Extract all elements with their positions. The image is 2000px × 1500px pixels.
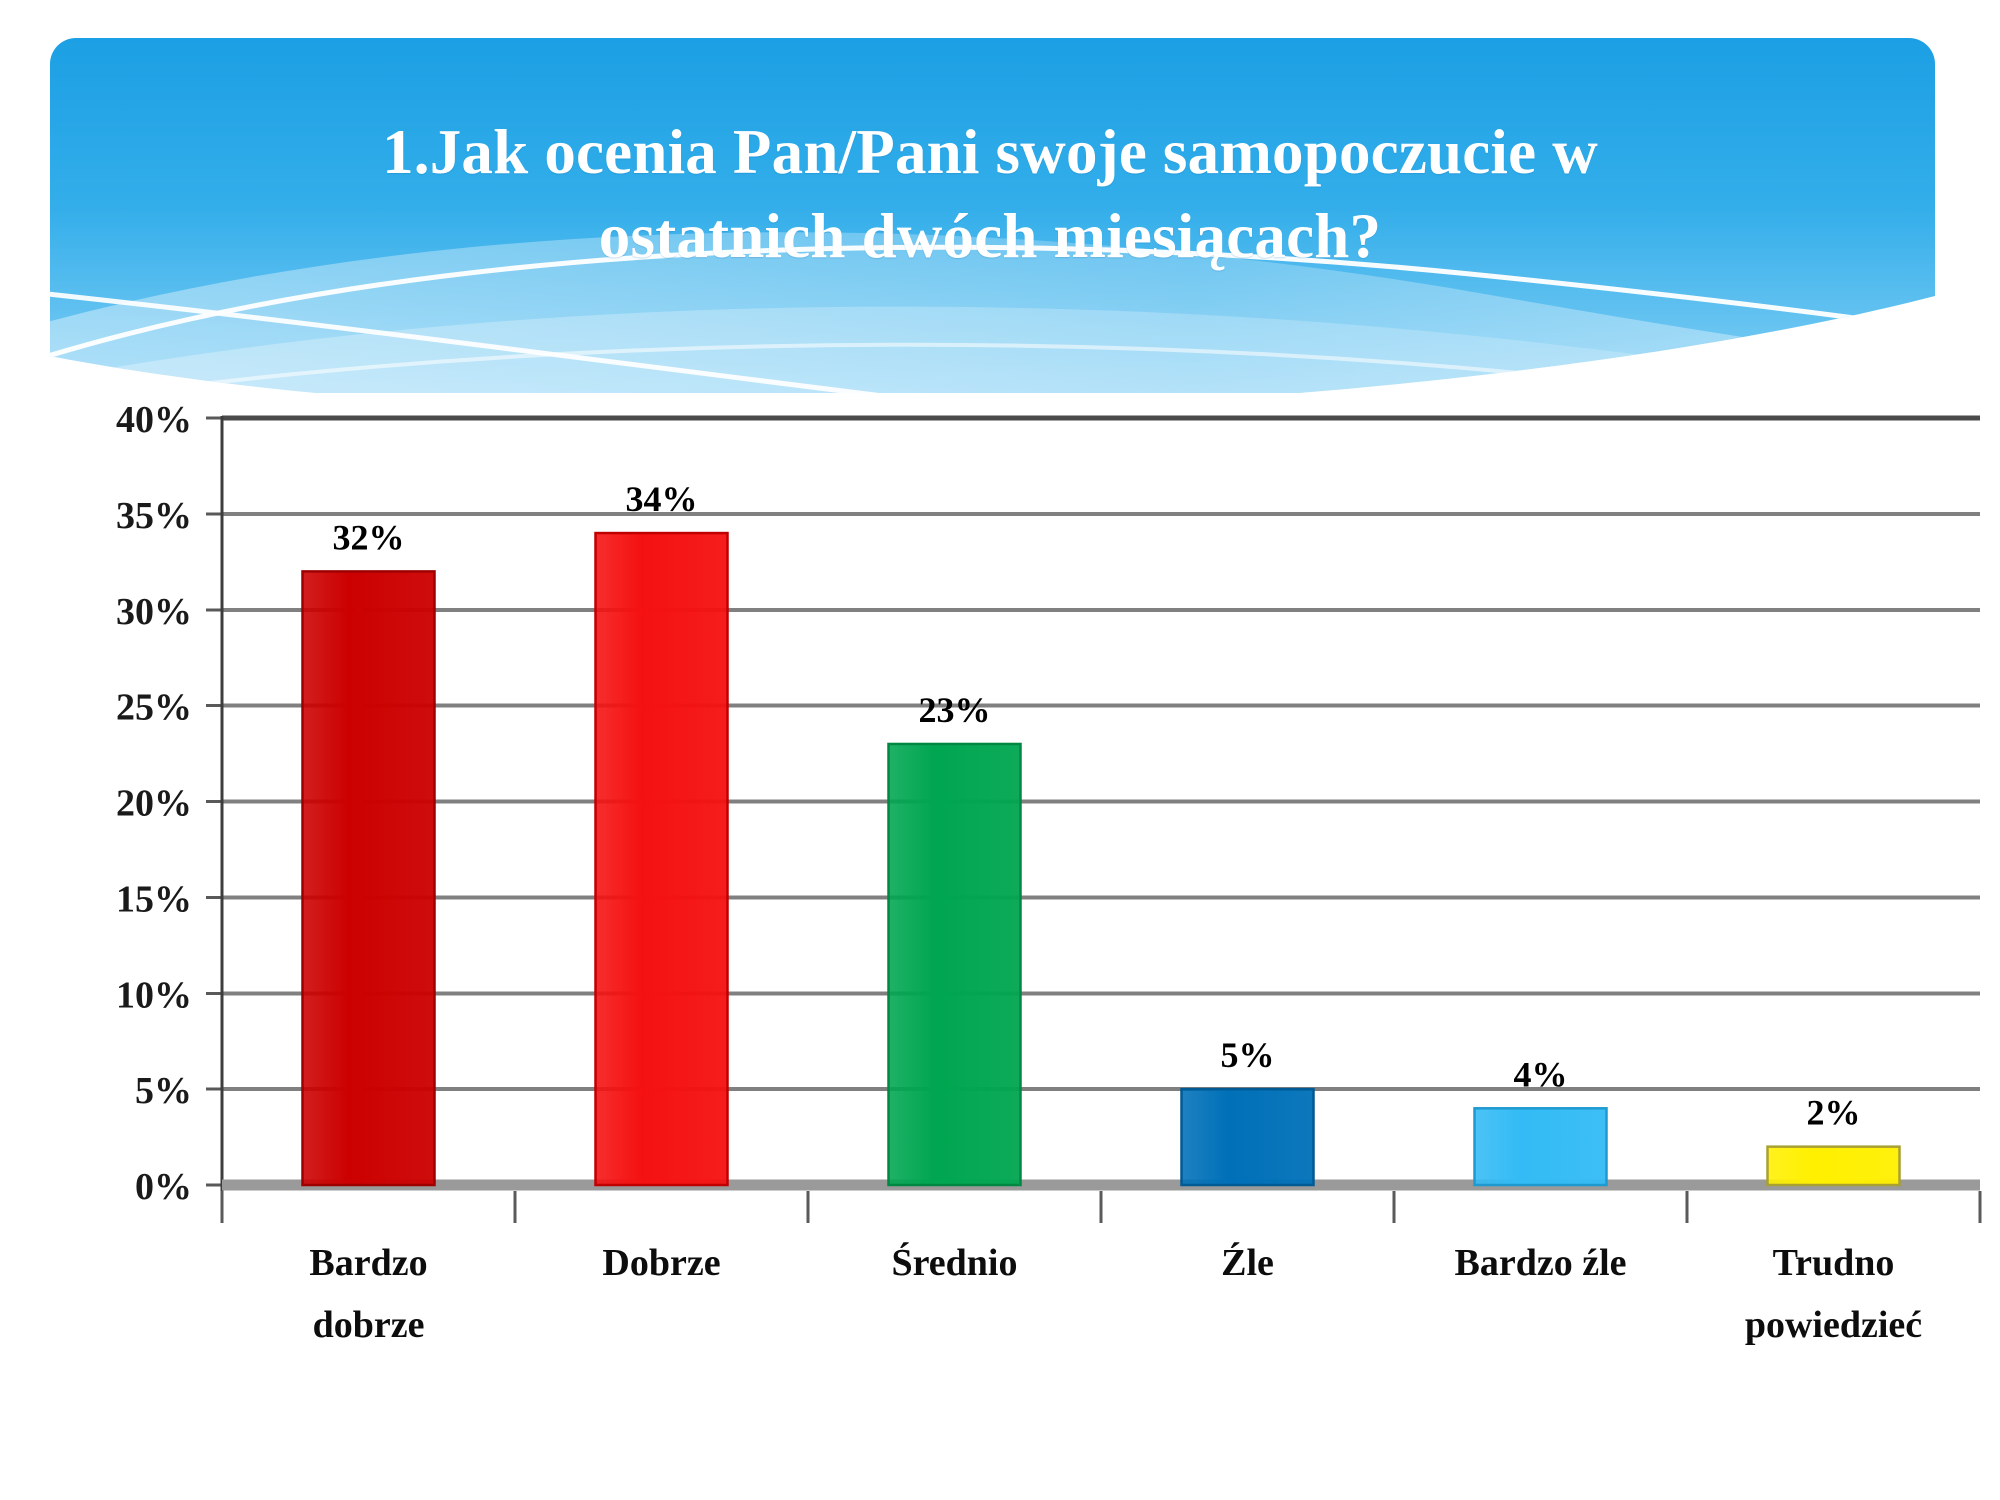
y-axis-tick-label: 20%	[116, 783, 192, 825]
category-label: dobrze	[313, 1304, 425, 1346]
category-labels-group: BardzodobrzeDobrzeŚrednioŹleBardzo źleTr…	[309, 1242, 1922, 1346]
bar[interactable]	[1182, 1089, 1314, 1185]
bar-value-label: 5%	[1221, 1035, 1275, 1075]
bar[interactable]	[1475, 1108, 1607, 1185]
bar-value-label: 34%	[626, 479, 698, 519]
bar-value-label: 2%	[1807, 1093, 1861, 1133]
y-axis-tick-label: 0%	[135, 1166, 192, 1208]
bar-value-label: 32%	[333, 517, 405, 557]
gridlines-group	[222, 418, 1980, 1185]
category-label: Źle	[1221, 1242, 1274, 1284]
category-label: Bardzo	[309, 1242, 427, 1284]
bar[interactable]	[889, 744, 1021, 1185]
y-axis-tick-label: 35%	[116, 495, 192, 537]
y-axis-tick-label: 25%	[116, 687, 192, 729]
y-axis-tick-label: 30%	[116, 591, 192, 633]
y-axis-tick-label: 15%	[116, 878, 192, 920]
y-axis-tick-label: 40%	[116, 399, 192, 441]
bar-value-label: 4%	[1514, 1054, 1568, 1094]
category-label: Dobrze	[602, 1242, 720, 1284]
bar-value-label: 23%	[919, 690, 991, 730]
bar[interactable]	[596, 533, 728, 1185]
slide-canvas: 1.Jak ocenia Pan/Pani swoje samopoczucie…	[0, 0, 2000, 1500]
axis-group	[206, 416, 1980, 1223]
category-label: powiedzieć	[1745, 1304, 1922, 1346]
category-label: Średnio	[891, 1242, 1017, 1284]
value-labels-group: 32%34%23%5%4%2%	[333, 479, 1861, 1133]
y-axis-tick-label: 10%	[116, 974, 192, 1016]
bar-chart: 0%5%10%15%20%25%30%35%40% 32%34%23%5%4%2…	[0, 0, 2000, 1500]
category-label: Trudno	[1773, 1242, 1895, 1284]
bar[interactable]	[303, 571, 435, 1185]
chart-svg: 0%5%10%15%20%25%30%35%40% 32%34%23%5%4%2…	[0, 0, 2000, 1500]
y-axis-labels-group: 0%5%10%15%20%25%30%35%40%	[116, 399, 192, 1208]
bar[interactable]	[1768, 1147, 1900, 1185]
category-label: Bardzo źle	[1454, 1242, 1626, 1284]
y-axis-tick-label: 5%	[135, 1070, 192, 1112]
